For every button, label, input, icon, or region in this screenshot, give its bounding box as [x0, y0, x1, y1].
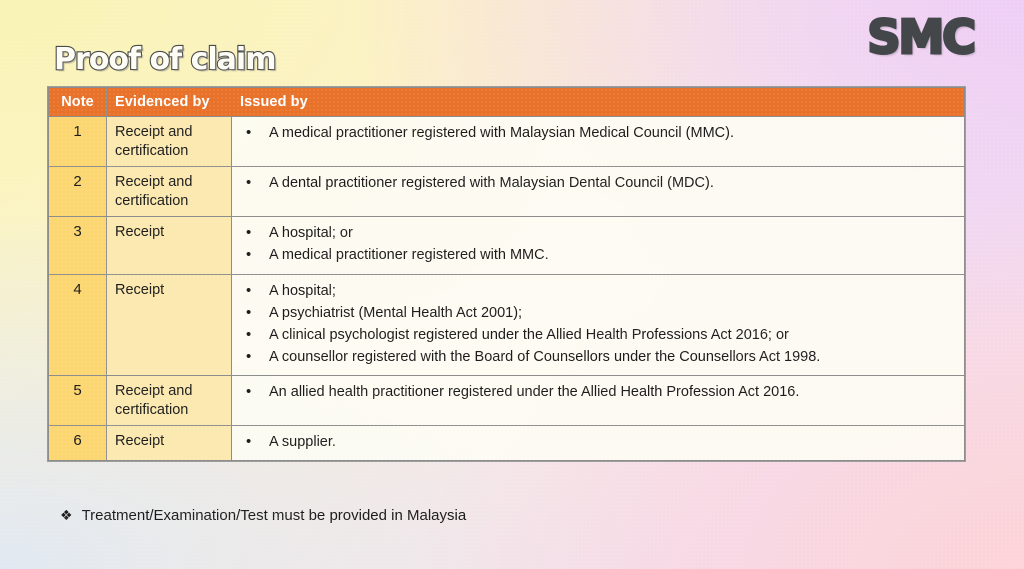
column-header-note: Note — [49, 88, 107, 117]
issued-by-list: A supplier. — [240, 432, 956, 453]
list-item: A hospital; or — [240, 223, 956, 244]
table-header-row: Note Evidenced by Issued by — [49, 88, 965, 117]
list-item: A psychiatrist (Mental Health Act 2001); — [240, 303, 956, 324]
cell-issued-by: A hospital;A psychiatrist (Mental Health… — [232, 274, 965, 376]
cell-evidenced-by: Receipt — [107, 217, 232, 274]
list-item: A clinical psychologist registered under… — [240, 325, 956, 346]
table-row: 2Receipt and certificationA dental pract… — [49, 167, 965, 217]
issued-by-list: A hospital; orA medical practitioner reg… — [240, 223, 956, 266]
list-item: A medical practitioner registered with M… — [240, 123, 956, 144]
slide-canvas: SMC Proof of claim Note Evidenced by Iss… — [0, 0, 1024, 569]
list-item: A supplier. — [240, 432, 956, 453]
cell-issued-by: An allied health practitioner registered… — [232, 376, 965, 426]
list-item: A counsellor registered with the Board o… — [240, 347, 956, 368]
proof-of-claim-table-wrapper: Note Evidenced by Issued by 1Receipt and… — [48, 87, 965, 461]
cell-evidenced-by: Receipt — [107, 274, 232, 376]
diamond-bullet-icon: ❖ — [60, 509, 73, 523]
cell-evidenced-by: Receipt and certification — [107, 167, 232, 217]
issued-by-list: A hospital;A psychiatrist (Mental Health… — [240, 281, 956, 369]
cell-note: 5 — [49, 376, 107, 426]
table-header: Note Evidenced by Issued by — [49, 88, 965, 117]
table-row: 3ReceiptA hospital; orA medical practiti… — [49, 217, 965, 274]
page-title: Proof of claim — [54, 42, 275, 77]
table-row: 4ReceiptA hospital;A psychiatrist (Menta… — [49, 274, 965, 376]
table-row: 1Receipt and certificationA medical prac… — [49, 117, 965, 167]
cell-evidenced-by: Receipt and certification — [107, 117, 232, 167]
proof-of-claim-table: Note Evidenced by Issued by 1Receipt and… — [48, 87, 965, 461]
cell-issued-by: A medical practitioner registered with M… — [232, 117, 965, 167]
table-row: 6ReceiptA supplier. — [49, 426, 965, 461]
cell-evidenced-by: Receipt — [107, 426, 232, 461]
list-item: An allied health practitioner registered… — [240, 382, 956, 403]
list-item: A dental practitioner registered with Ma… — [240, 173, 956, 194]
cell-issued-by: A supplier. — [232, 426, 965, 461]
cell-issued-by: A hospital; orA medical practitioner reg… — [232, 217, 965, 274]
issued-by-list: An allied health practitioner registered… — [240, 382, 956, 403]
issued-by-list: A medical practitioner registered with M… — [240, 123, 956, 144]
list-item: A medical practitioner registered with M… — [240, 245, 956, 266]
issued-by-list: A dental practitioner registered with Ma… — [240, 173, 956, 194]
smc-logo: SMC — [867, 14, 974, 60]
column-header-issued-by: Issued by — [232, 88, 965, 117]
footnote: ❖ Treatment/Examination/Test must be pro… — [60, 507, 466, 524]
list-item: A hospital; — [240, 281, 956, 302]
column-header-evidenced-by: Evidenced by — [107, 88, 232, 117]
cell-note: 2 — [49, 167, 107, 217]
table-body: 1Receipt and certificationA medical prac… — [49, 117, 965, 461]
footnote-text: Treatment/Examination/Test must be provi… — [82, 507, 467, 524]
table-row: 5Receipt and certificationAn allied heal… — [49, 376, 965, 426]
cell-note: 6 — [49, 426, 107, 461]
cell-note: 1 — [49, 117, 107, 167]
cell-issued-by: A dental practitioner registered with Ma… — [232, 167, 965, 217]
cell-note: 4 — [49, 274, 107, 376]
cell-evidenced-by: Receipt and certification — [107, 376, 232, 426]
cell-note: 3 — [49, 217, 107, 274]
